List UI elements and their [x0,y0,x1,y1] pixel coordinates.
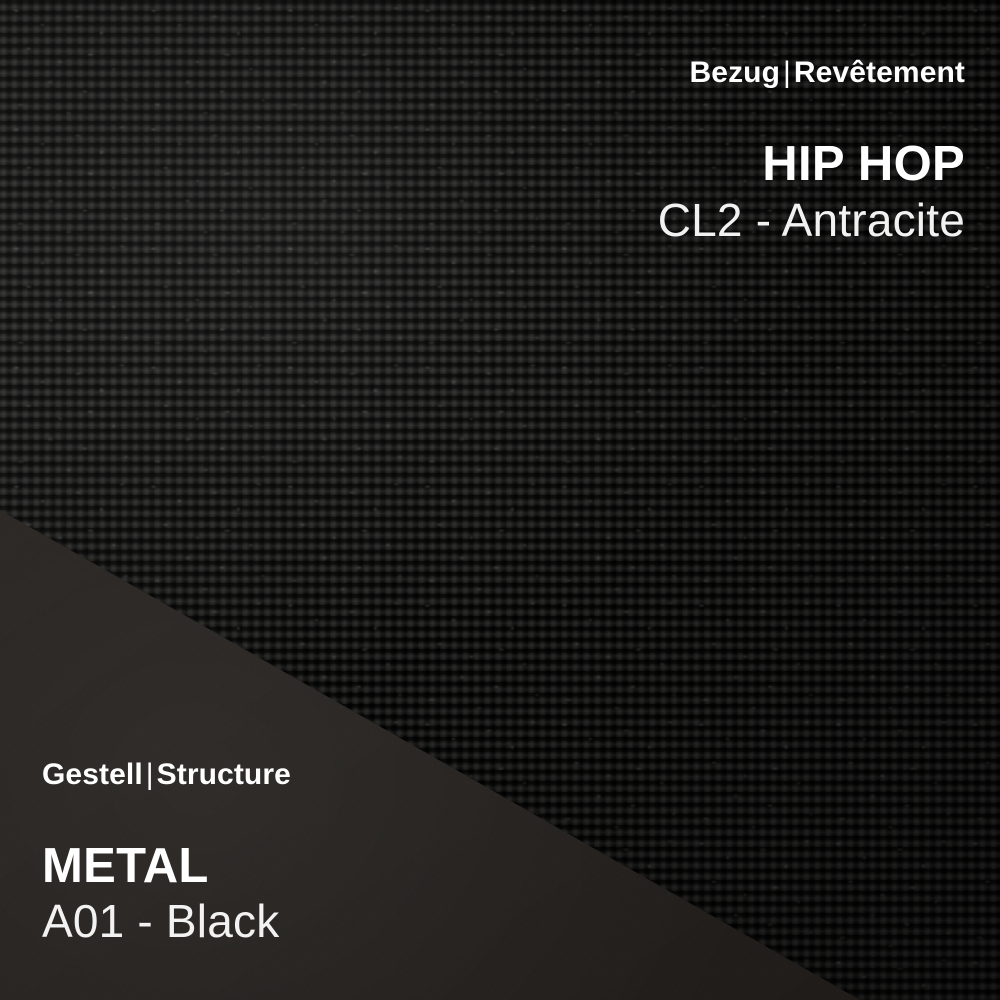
upholstery-eyebrow-separator: | [780,56,794,89]
frame-label-group: Gestell|Structure METAL A01 - Black [42,758,291,948]
upholstery-label-group: Bezug|Revêtement HIP HOP CL2 - Antracite [658,56,965,246]
upholstery-material-code: CL2 - Antracite [658,195,965,247]
frame-eyebrow-separator: | [143,758,157,791]
upholstery-eyebrow-fr: Revêtement [794,56,965,89]
frame-material-code: A01 - Black [42,896,291,948]
frame-eyebrow: Gestell|Structure [42,758,291,792]
upholstery-eyebrow-de: Bezug [690,56,781,89]
upholstery-eyebrow: Bezug|Revêtement [658,56,965,90]
frame-eyebrow-de: Gestell [42,758,143,791]
frame-material-name: METAL [42,840,291,893]
frame-eyebrow-fr: Structure [157,758,291,791]
material-swatch-card: Bezug|Revêtement HIP HOP CL2 - Antracite… [0,0,1000,1000]
upholstery-material-name: HIP HOP [658,138,965,191]
